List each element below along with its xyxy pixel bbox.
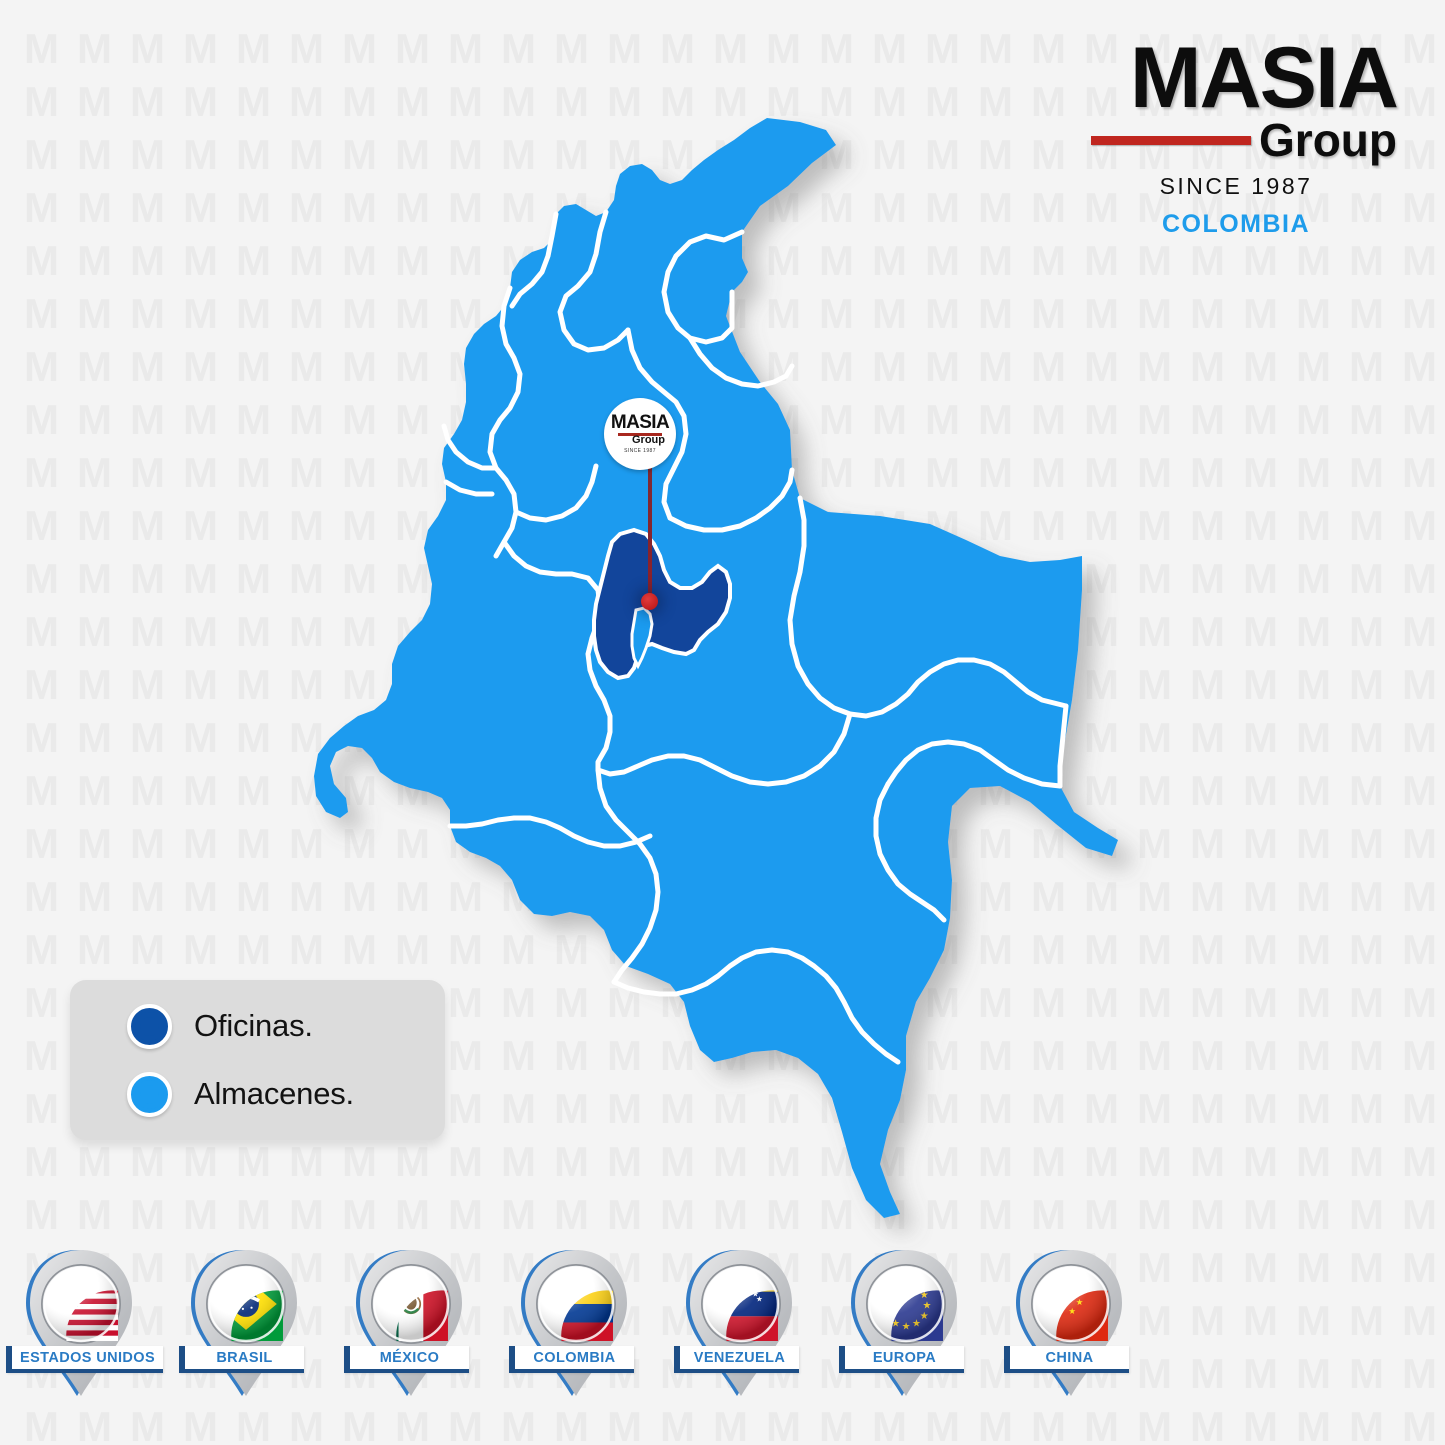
pin-label: CHINA [1004,1346,1129,1373]
legend-item-oficinas[interactable]: Oficinas. [70,992,445,1060]
bogota-city-dot [641,593,658,610]
country-pin-china[interactable]: ★ ★ ★ ★ ★ CHINA [990,1248,1155,1418]
badge-sub-brand: Group [632,435,665,446]
pin-label-text: ESTADOS UNIDOS [20,1350,155,1366]
pin-label: ESTADOS UNIDOS [6,1346,163,1373]
pin-label-text: EUROPA [873,1350,936,1366]
masia-map-badge[interactable]: MASIA Group SINCE 1987 [604,398,676,470]
logo-group-row: Group [1071,120,1401,160]
country-pin-row: ESTADOS UNIDOS [0,1248,1445,1418]
marker-needle [648,455,652,603]
highlight-department-cundinamarca [594,530,730,678]
legend-label-warehouses: Almacenes. [194,1076,354,1112]
poster-stage: MASIA Group SINCE 1987 MASIA Group SINCE… [0,0,1445,1445]
pin-label-text: MÉXICO [380,1350,440,1366]
department-borders [444,212,1066,1062]
pin-label: BRASIL [179,1346,304,1373]
legend-label-offices: Oficinas. [194,1008,313,1044]
legend-item-almacenes[interactable]: Almacenes. [70,1060,445,1128]
pin-label-text: COLOMBIA [533,1350,615,1366]
pin-shape: ★★★★★★★★★★★★ [851,1248,961,1398]
legend-marker-warehouses-icon [127,1072,172,1117]
pin-shape: ★ ★ ★ ★ ★ [1016,1248,1126,1398]
logo-red-line [1091,136,1251,145]
pin-shape: ★★★★★★★★ [686,1248,796,1398]
logo-since: SINCE 1987 [1071,173,1401,200]
badge-since: SINCE 1987 [624,448,656,454]
pin-label: COLOMBIA [509,1346,634,1373]
country-pin-colombia[interactable]: COLOMBIA [495,1248,660,1418]
pin-label: EUROPA [839,1346,964,1373]
badge-brand: MASIA [611,414,669,431]
map-legend: Oficinas. Almacenes. [70,980,445,1140]
pin-shape [521,1248,631,1398]
logo-country: COLOMBIA [1071,210,1401,239]
pin-label-text: BRASIL [216,1350,272,1366]
country-pin-estados-unidos[interactable]: ESTADOS UNIDOS [0,1248,165,1418]
pin-shape [191,1248,301,1398]
country-pin-europa[interactable]: ★★★★★★★★★★★★ EUROPA [825,1248,990,1418]
country-pin-méxico[interactable]: MÉXICO [330,1248,495,1418]
logo-brand: MASIA [1071,38,1401,118]
pin-label-text: CHINA [1046,1350,1094,1366]
pin-shape [356,1248,466,1398]
pin-label: MÉXICO [344,1346,469,1373]
pin-label-text: VENEZUELA [694,1350,785,1366]
masia-group-logo: MASIA Group SINCE 1987 COLOMBIA [1071,38,1401,239]
legend-marker-offices-icon [127,1004,172,1049]
country-pin-brasil[interactable]: BRASIL [165,1248,330,1418]
pin-label: VENEZUELA [674,1346,799,1373]
pin-shape [26,1248,136,1398]
country-pin-venezuela[interactable]: ★★★★★★★★ VENEZUELA [660,1248,825,1418]
logo-sub-brand: Group [1259,120,1397,160]
